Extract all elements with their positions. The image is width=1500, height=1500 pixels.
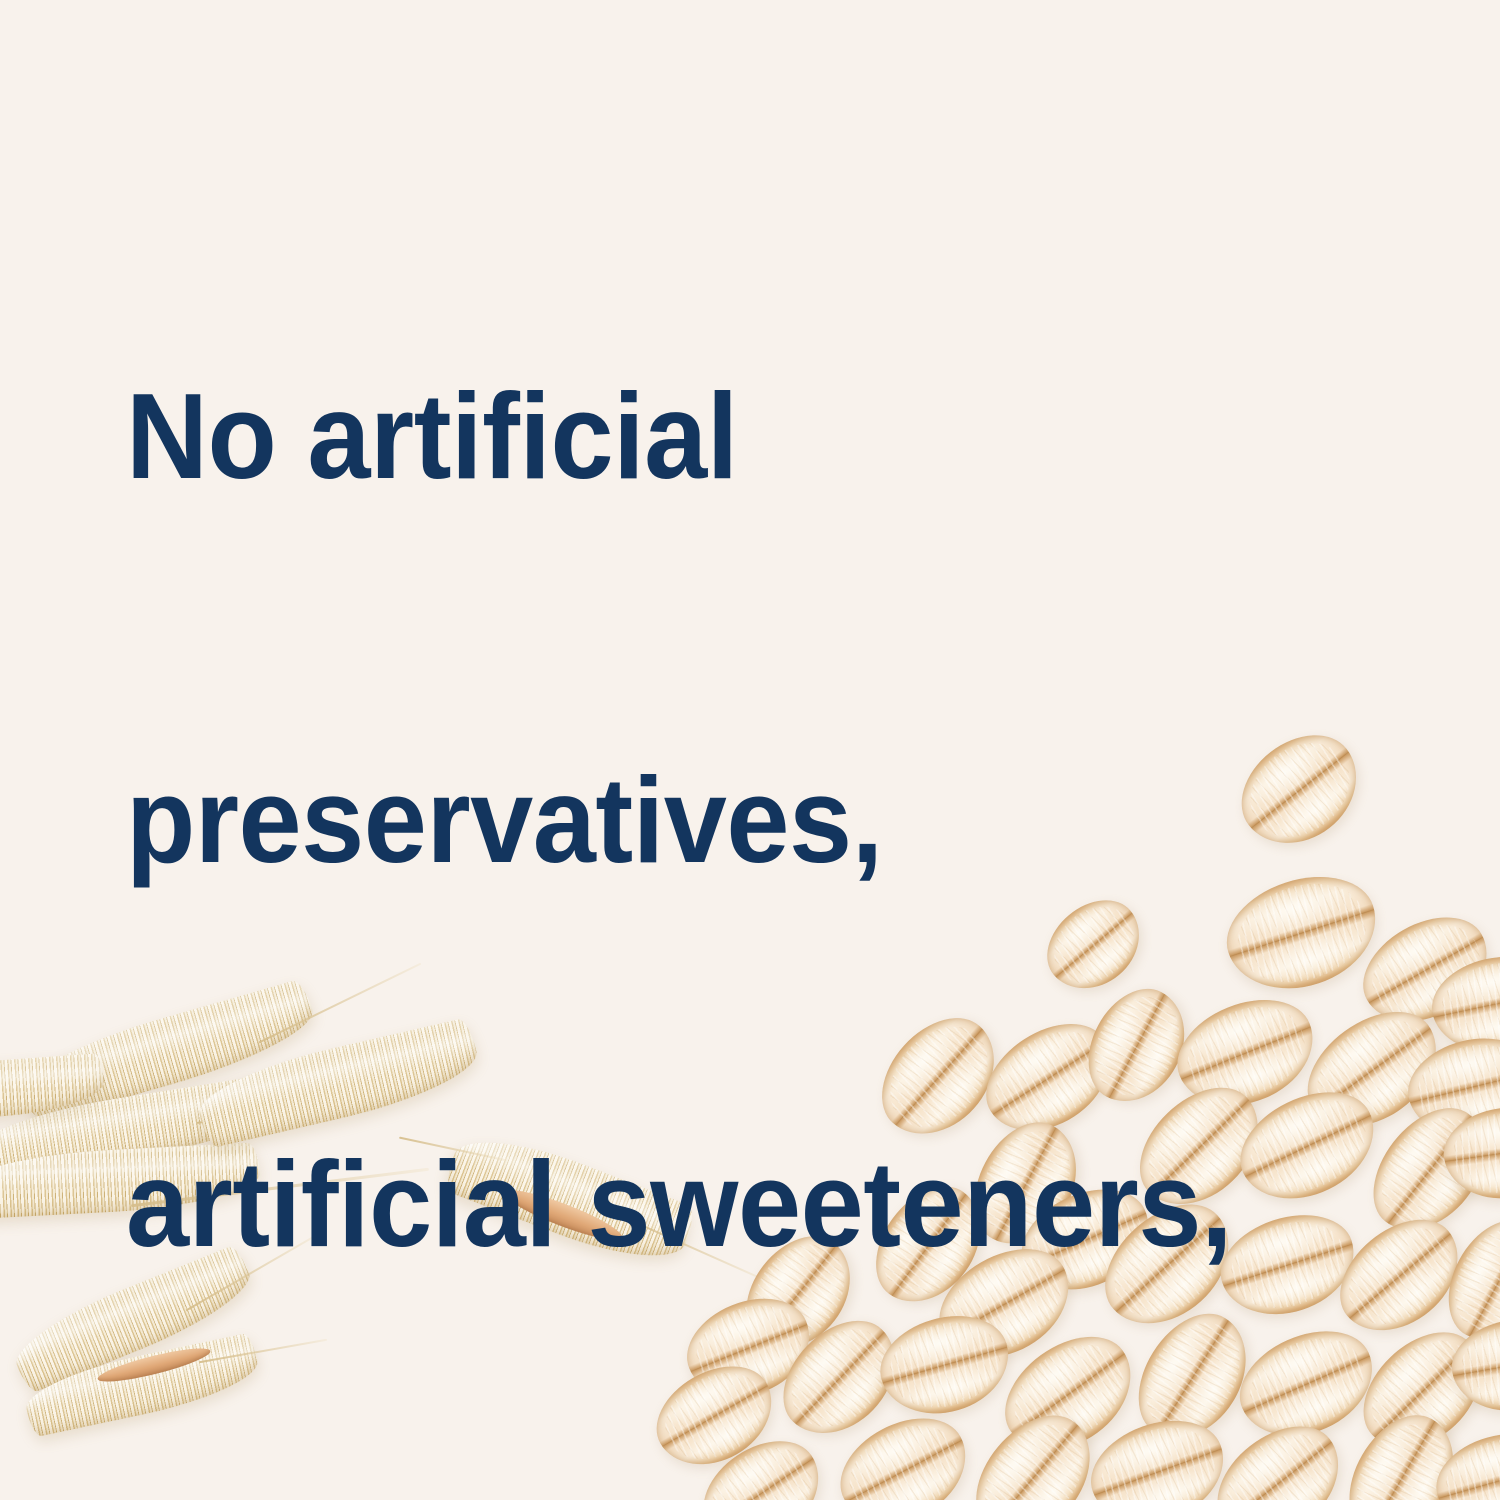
headline-line-1: No artificial (126, 372, 1298, 500)
headline-line-3: artificial sweeteners, (126, 1140, 1298, 1268)
product-callout-canvas: No artificial preservatives, artificial … (0, 0, 1500, 1500)
headline-line-2: preservatives, (126, 756, 1298, 884)
headline-text: No artificial preservatives, artificial … (126, 116, 1298, 1500)
